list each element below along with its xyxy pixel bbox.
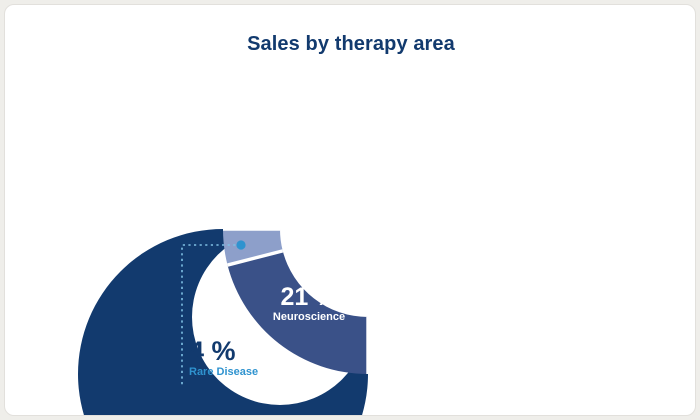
rare-disease-callout-dot [236,240,245,249]
donut-chart: 75 % Oncology 21 % Neuroscience 4 % Rare… [5,5,696,416]
donut-slice-neuroscience[interactable] [228,251,368,374]
chart-card: Sales by therapy area 75 % O [4,4,696,416]
donut-svg [5,5,696,416]
